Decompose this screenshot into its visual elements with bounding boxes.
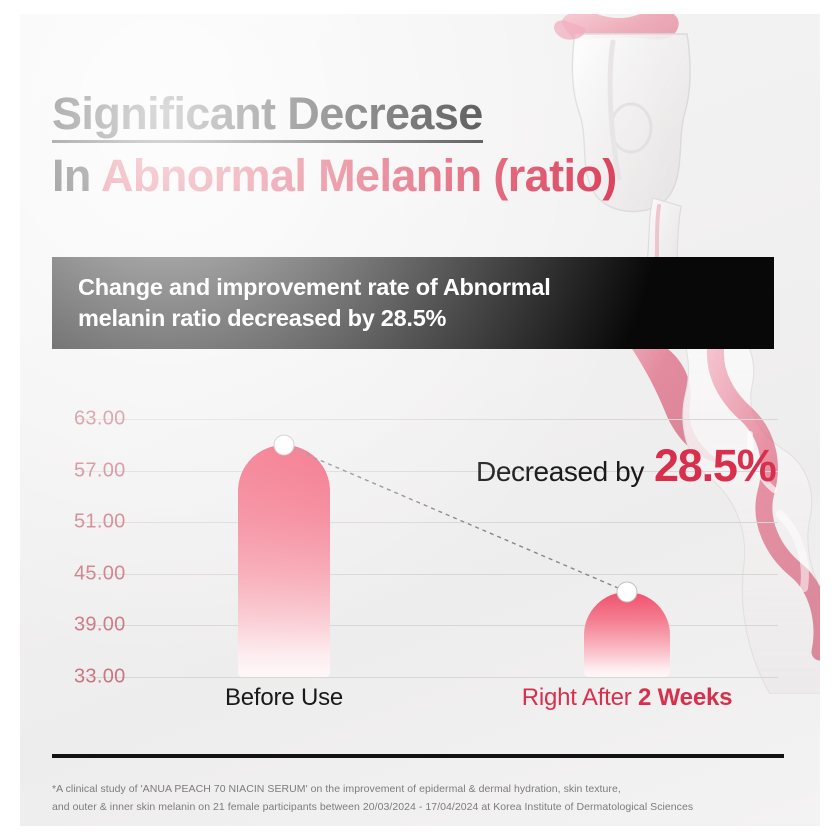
melanin-bar-chart: 63.0057.0051.0045.0039.0033.00 Decreased…	[52, 392, 778, 714]
y-axis-tick-label: 57.00	[74, 459, 126, 482]
bar-right-after-2-weeks	[584, 592, 670, 677]
headline-line-1: Significant Decrease	[52, 90, 483, 143]
decrease-callout-value: 28.5%	[654, 448, 776, 484]
y-axis-tick-label: 39.00	[74, 614, 126, 637]
decrease-callout-label: Decreased by	[476, 456, 644, 488]
gridline	[80, 574, 778, 575]
footer-divider	[52, 754, 784, 758]
x-axis-label-before-use: Before Use	[225, 684, 343, 712]
bar-before-use	[238, 445, 330, 677]
headline-line-2: In Abnormal Melanin (ratio)	[52, 152, 752, 200]
footnote-block: *A clinical study of 'ANUA PEACH 70 NIAC…	[52, 780, 792, 816]
data-point-marker	[617, 581, 638, 602]
x-label-regular: Right After	[522, 684, 638, 711]
headline-accent: Abnormal Melanin (ratio)	[101, 150, 617, 201]
infographic-page: Significant Decrease In Abnormal Melanin…	[0, 0, 840, 840]
data-point-marker	[274, 434, 295, 455]
y-axis-tick-label: 45.00	[74, 562, 126, 585]
infographic-canvas: Significant Decrease In Abnormal Melanin…	[20, 14, 820, 826]
y-axis-tick-label: 51.00	[74, 511, 126, 534]
x-axis-label-after-2-weeks: Right After 2 Weeks	[522, 684, 733, 712]
gridline	[80, 677, 778, 678]
decrease-callout: Decreased by 28.5%	[476, 448, 776, 488]
summary-banner-line-2: melanin ratio decreased by 28.5%	[78, 303, 551, 334]
y-axis-tick-label: 63.00	[74, 408, 126, 431]
summary-banner: Change and improvement rate of Abnormal …	[52, 257, 774, 349]
gridline	[80, 625, 778, 626]
footnote-line-2: and outer & inner skin melanin on 21 fem…	[52, 798, 792, 816]
summary-banner-line-1: Change and improvement rate of Abnormal	[78, 272, 551, 303]
gridline	[80, 419, 778, 420]
x-label-bold: 2 Weeks	[638, 684, 732, 711]
footnote-line-1: *A clinical study of 'ANUA PEACH 70 NIAC…	[52, 780, 792, 798]
chart-plot-area: 63.0057.0051.0045.0039.0033.00 Decreased…	[52, 392, 778, 682]
headline-prefix: In	[52, 150, 101, 201]
chart-x-axis: Before Use Right After 2 Weeks	[52, 684, 778, 716]
summary-banner-text: Change and improvement rate of Abnormal …	[78, 272, 551, 333]
gridline	[80, 522, 778, 523]
headline-block: Significant Decrease In Abnormal Melanin…	[52, 90, 752, 199]
